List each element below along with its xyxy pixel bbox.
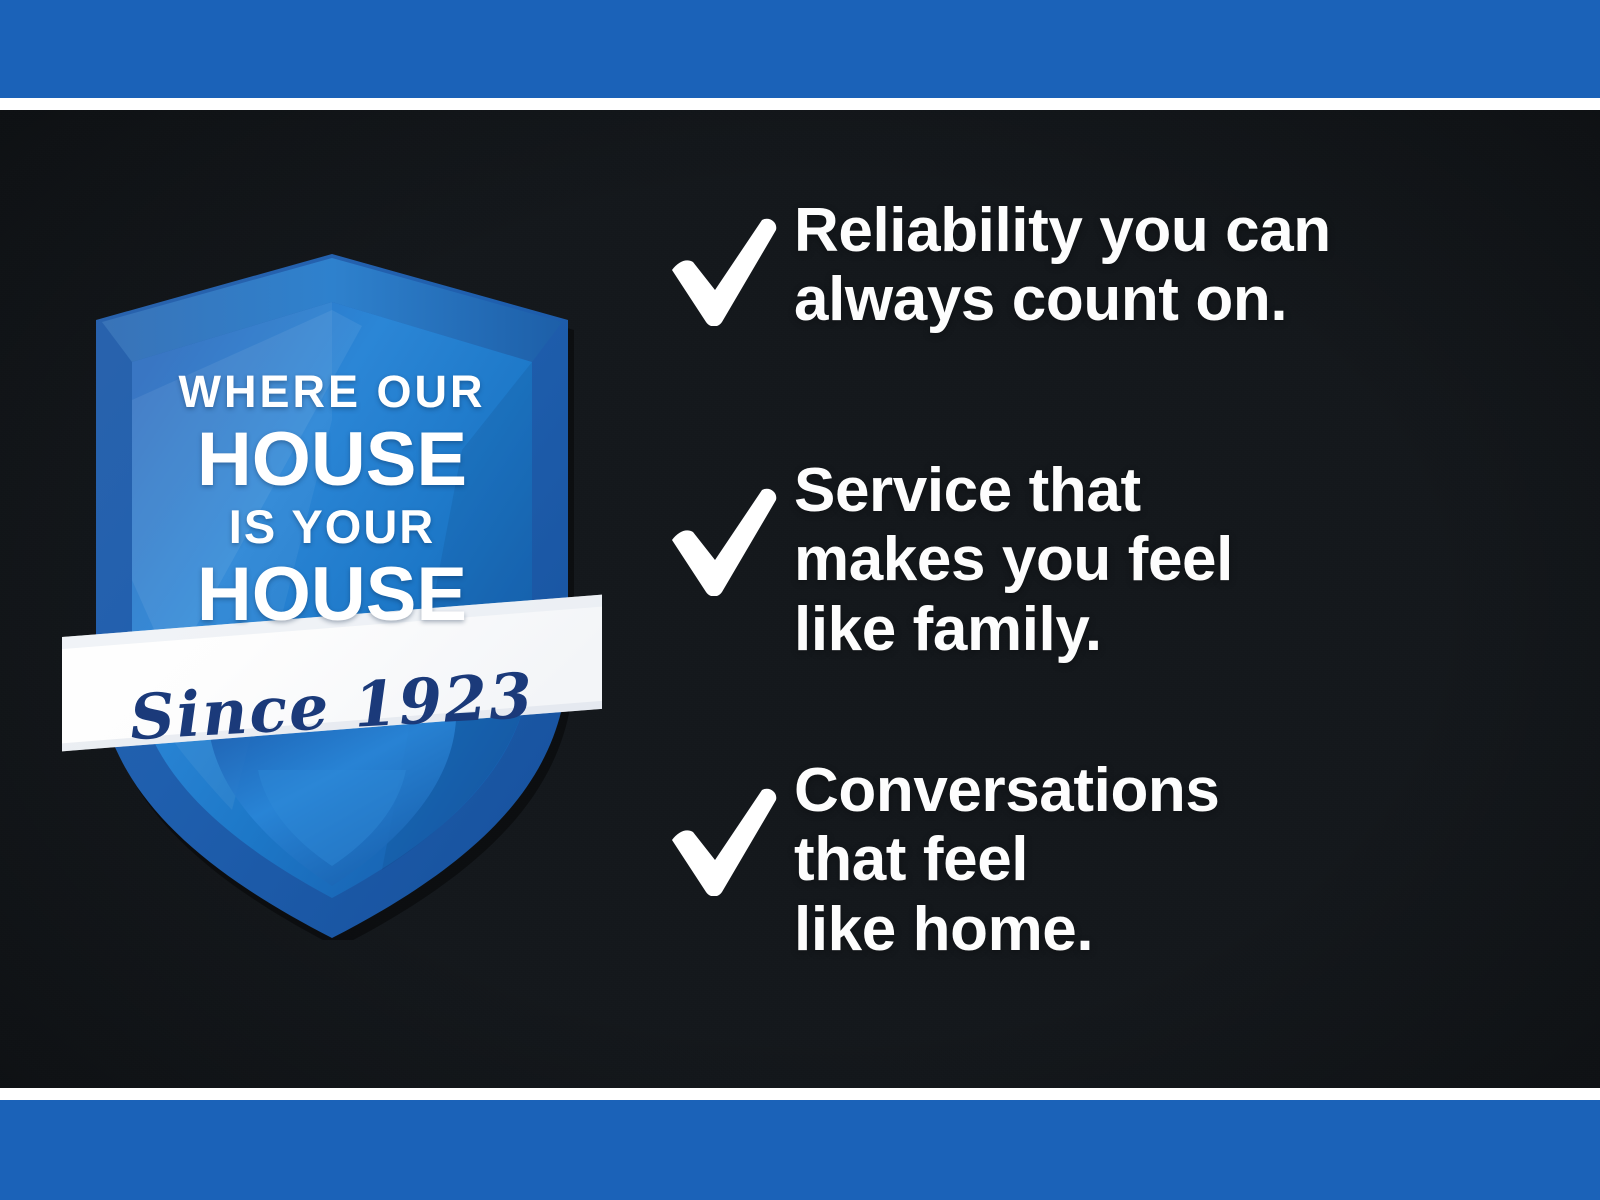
checkmark-icon [668, 756, 794, 896]
benefits-list: Reliability you can always count on. Ser… [668, 196, 1548, 986]
benefit-item: Service that makes you feel like family. [668, 456, 1548, 756]
shield-badge: WHERE OUR HOUSE IS YOUR HOUSE Since 1923 [62, 250, 602, 940]
bottom-brand-bar [0, 1100, 1600, 1200]
benefit-item: Reliability you can always count on. [668, 196, 1548, 456]
benefit-text: Conversations that feel like home. [794, 756, 1548, 964]
promo-graphic: WHERE OUR HOUSE IS YOUR HOUSE Since 1923… [0, 0, 1600, 1200]
top-brand-bar [0, 0, 1600, 98]
checkmark-icon [668, 196, 794, 326]
benefit-text: Reliability you can always count on. [794, 196, 1548, 335]
benefit-text: Service that makes you feel like family. [794, 456, 1548, 664]
checkmark-icon [668, 456, 794, 596]
benefit-item: Conversations that feel like home. [668, 756, 1548, 986]
